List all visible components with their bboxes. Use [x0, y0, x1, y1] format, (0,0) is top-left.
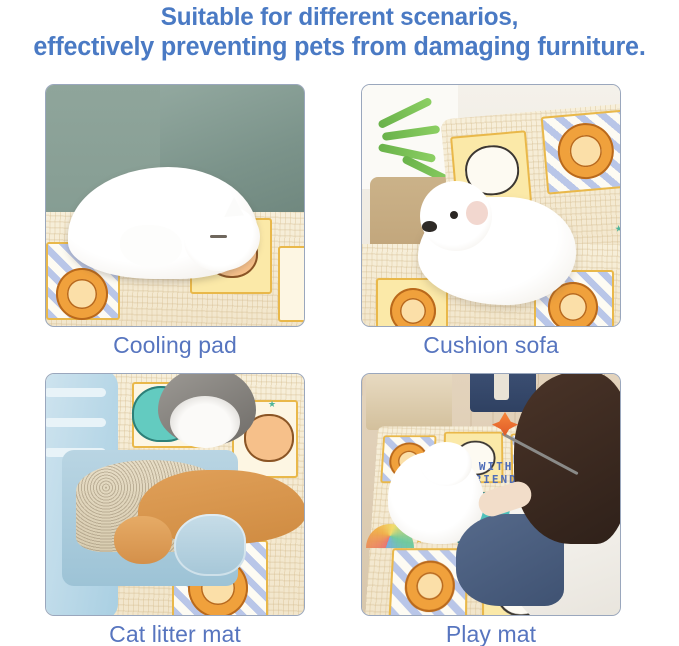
star-motif: ★ [614, 224, 621, 234]
scenario-card-play-mat[interactable]: ★ ★ WITH FRIENDS Play mat [361, 373, 621, 646]
bichon-dog-nose [422, 221, 437, 232]
photo-cushion-sofa[interactable]: ★ ★ WITH [361, 84, 621, 327]
litter-box-lip [174, 514, 246, 576]
lion-motif [56, 268, 108, 320]
page-title: Suitable for different scenarios, effect… [0, 0, 679, 63]
white-cat-eye [210, 235, 227, 238]
mat-tile-cream [278, 246, 305, 322]
star-motif: ★ [268, 400, 276, 409]
lion-motif [390, 288, 436, 327]
photo-cooling-pad[interactable]: ★ [45, 84, 305, 327]
orange-cat-head [114, 516, 172, 564]
plant-frond [382, 125, 441, 141]
cat-tree-pole [494, 373, 509, 400]
white-cat-paw [120, 225, 182, 267]
caption-cushion-sofa: Cushion sofa [361, 327, 621, 363]
photo-cat-litter-mat[interactable]: ★ ★ [45, 373, 305, 616]
scenario-card-cooling-pad[interactable]: ★ Cooling pad [45, 84, 305, 363]
scenario-card-cushion-sofa[interactable]: ★ ★ WITH Cushion sofa [361, 84, 621, 363]
rail-bar [45, 418, 106, 427]
photo-play-mat[interactable]: ★ ★ WITH FRIENDS [361, 373, 621, 616]
bichon-dog-eye [450, 211, 458, 219]
caption-play-mat: Play mat [361, 616, 621, 646]
white-cat-head [420, 442, 472, 486]
woman-hair [514, 373, 621, 544]
bichon-dog-ear [466, 201, 488, 225]
wooden-stool [366, 373, 452, 430]
headline-line-2: effectively preventing pets from damagin… [5, 32, 674, 63]
grey-cat-face [170, 396, 240, 448]
caption-cooling-pad: Cooling pad [45, 327, 305, 363]
product-infographic: Suitable for different scenarios, effect… [0, 0, 679, 646]
rail-bar [45, 388, 106, 397]
headline-line-1: Suitable for different scenarios, [10, 2, 669, 32]
scenario-card-cat-litter-mat[interactable]: ★ ★ Cat litter mat [45, 373, 305, 646]
scenario-grid: ★ Cooling pad [45, 84, 621, 646]
caption-cat-litter-mat: Cat litter mat [45, 616, 305, 646]
